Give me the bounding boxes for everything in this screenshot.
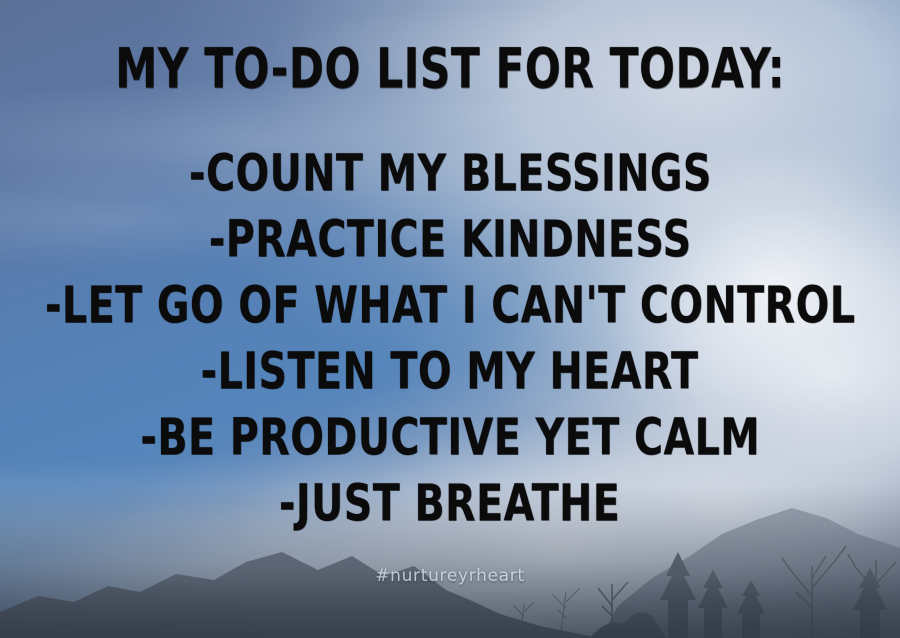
list-item: -LET GO OF WHAT I CAN'T CONTROL [45,281,855,332]
page-title: MY TO-DO LIST FOR TODAY: [115,42,785,97]
quote-text-block: MY TO-DO LIST FOR TODAY: -COUNT MY BLESS… [0,0,900,638]
todo-list: -COUNT MY BLESSINGS -PRACTICE KINDNESS -… [0,149,900,523]
watermark-credit: #nurtureyrheart [0,566,900,586]
list-item: -PRACTICE KINDNESS [209,215,692,266]
quote-card: MY TO-DO LIST FOR TODAY: -COUNT MY BLESS… [0,0,900,638]
list-item: -LISTEN TO MY HEART [201,347,699,398]
list-item: -BE PRODUCTIVE YET CALM [140,413,760,464]
list-item: -JUST BREATHE [279,479,620,530]
list-item: -COUNT MY BLESSINGS [189,149,712,200]
